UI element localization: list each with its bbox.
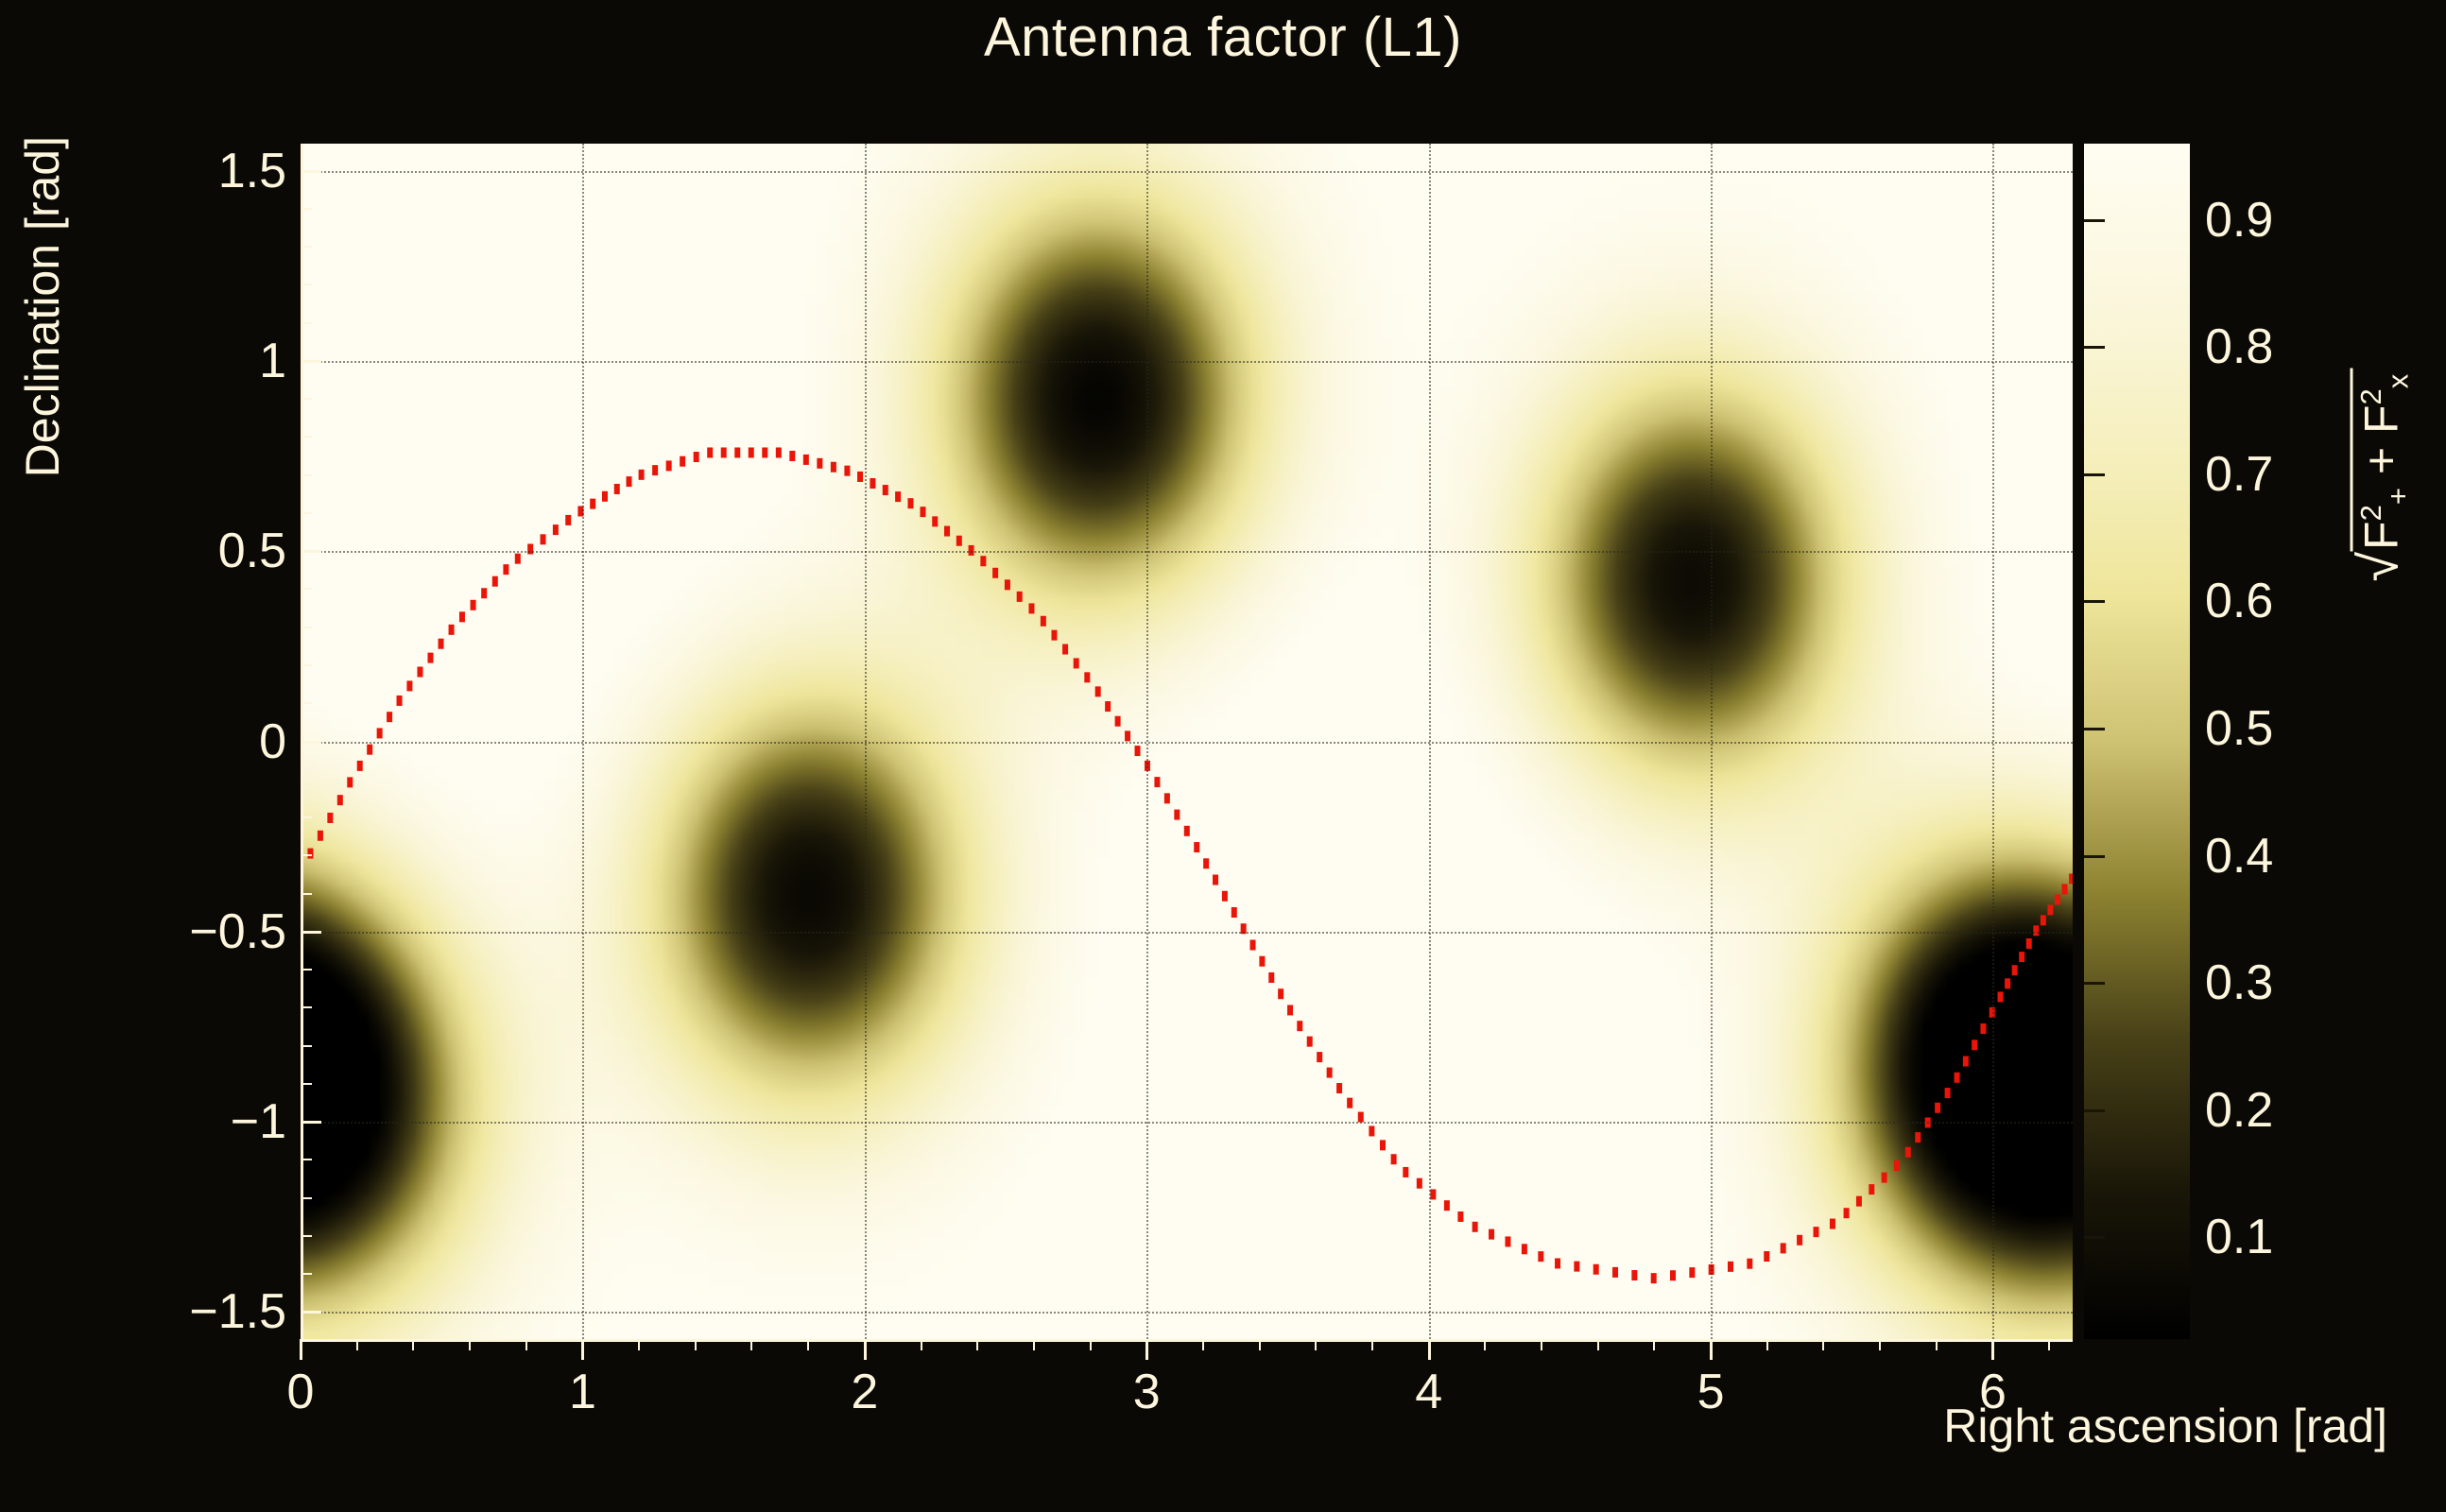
y-minor-tick xyxy=(301,398,312,400)
y-minor-tick xyxy=(301,1045,312,1047)
x-minor-tick xyxy=(750,1339,752,1350)
curve-point xyxy=(1555,1258,1560,1268)
curve-point xyxy=(1612,1267,1618,1278)
curve-point xyxy=(1972,1039,1977,1050)
curve-point xyxy=(1154,777,1160,787)
f-cross-term: F2x xyxy=(2355,374,2408,434)
curve-point xyxy=(907,498,913,508)
curve-point xyxy=(1689,1267,1695,1278)
curve-point xyxy=(1074,658,1079,668)
y-minor-tick xyxy=(301,816,312,818)
colorbar-tick-mark xyxy=(2084,1236,2105,1239)
y-minor-tick xyxy=(301,1159,312,1160)
y-minor-tick xyxy=(301,283,312,285)
x-minor-tick xyxy=(1653,1339,1655,1350)
colorbar-tick-label: 0.5 xyxy=(2205,700,2273,757)
y-tick-label: 0 xyxy=(121,713,286,770)
curve-point xyxy=(1268,972,1274,983)
curve-point xyxy=(932,516,938,526)
colorbar-tick-mark xyxy=(2084,346,2105,349)
curve-point xyxy=(1391,1154,1397,1164)
curve-point xyxy=(2019,952,2024,962)
curve-point xyxy=(1125,730,1130,741)
x-minor-tick xyxy=(469,1339,471,1350)
curve-point xyxy=(1164,793,1170,803)
y-tick-label: −1.5 xyxy=(121,1283,286,1340)
x-tick-mark xyxy=(864,1339,867,1360)
y-tick-mark xyxy=(301,1311,321,1314)
colorbar-tick-label: 0.3 xyxy=(2205,954,2273,1011)
curve-point xyxy=(1593,1264,1599,1275)
colorbar-tick-label: 0.8 xyxy=(2205,318,2273,375)
y-tick-label: 0.5 xyxy=(121,523,286,579)
curve-point xyxy=(734,447,740,457)
x-minor-tick xyxy=(2048,1339,2050,1350)
x-minor-tick xyxy=(1936,1339,1938,1350)
y-tick-mark xyxy=(301,360,321,363)
colorbar-tick-mark xyxy=(2084,855,2105,858)
curve-point xyxy=(1869,1184,1874,1194)
curve-point xyxy=(2005,978,2010,988)
curve-point xyxy=(2055,894,2060,904)
x-tick-mark xyxy=(1428,1339,1431,1360)
colorbar: 0.90.80.70.60.50.40.30.20.1 xyxy=(2084,144,2190,1339)
curve-point xyxy=(1905,1147,1911,1158)
x-tick-label: 1 xyxy=(569,1364,596,1420)
x-tick-mark xyxy=(581,1339,584,1360)
x-minor-tick xyxy=(1484,1339,1486,1350)
y-minor-tick xyxy=(301,1083,312,1085)
curve-point xyxy=(870,478,875,489)
curve-point xyxy=(1307,1037,1313,1047)
colorbar-tick-mark xyxy=(2084,219,2105,222)
curve-point xyxy=(1105,701,1111,712)
radicand: F2+ + F2x xyxy=(2351,369,2408,552)
y-minor-tick xyxy=(301,969,312,971)
curve-point xyxy=(367,745,372,755)
colorbar-title: √F2+ + F2x xyxy=(2221,142,2446,255)
curve-point xyxy=(492,576,498,587)
x-minor-tick xyxy=(1202,1339,1204,1350)
curve-point xyxy=(357,761,363,771)
x-minor-tick xyxy=(976,1339,978,1350)
x-minor-tick xyxy=(638,1339,640,1350)
y-minor-tick xyxy=(301,893,312,895)
y-axis-title: Declination [rad] xyxy=(15,136,70,798)
curve-point xyxy=(1317,1052,1322,1062)
curve-point xyxy=(1358,1112,1364,1123)
y-gridline xyxy=(301,361,2073,363)
curve-point xyxy=(1369,1125,1374,1136)
curve-point xyxy=(1945,1088,1951,1098)
y-minor-tick xyxy=(301,627,312,628)
y-gridline xyxy=(301,171,2073,173)
curve-point xyxy=(1017,592,1023,602)
curve-point xyxy=(1781,1243,1786,1253)
curve-point xyxy=(1250,940,1256,951)
x-minor-tick xyxy=(412,1339,414,1350)
y-gridline xyxy=(301,551,2073,553)
curve-point xyxy=(749,447,754,457)
x-minor-tick xyxy=(1597,1339,1599,1350)
curve-point xyxy=(883,485,888,495)
curve-point xyxy=(2069,873,2073,884)
x-tick-mark xyxy=(1145,1339,1148,1360)
y-tick-label: −0.5 xyxy=(121,903,286,960)
curve-point xyxy=(980,556,986,566)
curve-point xyxy=(459,611,465,622)
y-gridline xyxy=(301,1312,2073,1314)
x-minor-tick xyxy=(1315,1339,1317,1350)
curve-point xyxy=(439,639,444,649)
curve-point xyxy=(992,568,998,578)
curve-point xyxy=(1095,686,1101,696)
curve-point xyxy=(1522,1244,1527,1254)
y-minor-tick xyxy=(301,474,312,476)
curve-point xyxy=(1844,1208,1850,1218)
curve-point xyxy=(1287,1005,1293,1015)
x-tick-mark xyxy=(300,1339,302,1360)
curve-point xyxy=(920,507,925,517)
curve-point xyxy=(553,524,559,535)
curve-point xyxy=(417,667,422,678)
y-minor-tick xyxy=(301,1273,312,1275)
curve-point xyxy=(1194,842,1199,852)
curve-point xyxy=(1631,1270,1637,1280)
curve-point xyxy=(1538,1251,1543,1262)
curve-point xyxy=(1505,1236,1510,1246)
x-tick-label: 2 xyxy=(851,1364,878,1420)
y-gridline xyxy=(301,932,2073,934)
colorbar-tick-mark xyxy=(2084,728,2105,730)
colorbar-tick-mark xyxy=(2084,982,2105,985)
curve-point xyxy=(515,554,521,564)
y-minor-tick xyxy=(301,588,312,590)
y-tick-mark xyxy=(301,550,321,553)
curve-point xyxy=(1028,603,1034,613)
curve-point xyxy=(1084,672,1090,682)
curve-point xyxy=(1830,1219,1835,1229)
colorbar-title-text: √F2+ + F2x xyxy=(2349,53,2416,582)
colorbar-tick-label: 0.4 xyxy=(2205,828,2273,885)
y-minor-tick xyxy=(301,1006,312,1008)
y-tick-label: 1 xyxy=(121,333,286,389)
curve-point xyxy=(652,465,658,475)
curve-point xyxy=(1417,1178,1422,1189)
curve-point xyxy=(471,600,476,610)
curve-point xyxy=(503,564,508,575)
x-minor-tick xyxy=(1090,1339,1092,1350)
curve-point xyxy=(1457,1211,1463,1222)
curve-point xyxy=(481,588,487,598)
curve-point xyxy=(666,460,672,471)
curve-point xyxy=(1955,1073,1960,1083)
curve-point xyxy=(2033,925,2039,936)
x-tick-label: 0 xyxy=(287,1364,315,1420)
curve-point xyxy=(1213,875,1218,885)
x-tick-label: 3 xyxy=(1133,1364,1161,1420)
curve-point xyxy=(1041,616,1046,627)
curve-point xyxy=(1380,1140,1386,1150)
curve-point xyxy=(565,515,571,525)
y-minor-tick xyxy=(301,208,312,210)
chart-canvas: Antenna factor (L1) 0123456 1.510.50−0.5… xyxy=(0,0,2446,1512)
curve-point xyxy=(831,462,836,472)
curve-point xyxy=(1444,1200,1450,1211)
curve-point xyxy=(895,491,901,502)
x-minor-tick xyxy=(807,1339,809,1350)
curve-point xyxy=(1747,1259,1752,1269)
curve-point xyxy=(318,831,323,841)
curve-point xyxy=(337,795,343,805)
colorbar-tick-label: 0.1 xyxy=(2205,1209,2273,1265)
curve-point xyxy=(803,455,809,465)
curve-point xyxy=(327,813,333,823)
curve-point xyxy=(1728,1262,1733,1272)
curve-point xyxy=(1430,1189,1436,1199)
x-minor-tick xyxy=(1766,1339,1768,1350)
curve-point xyxy=(627,476,632,487)
curve-point xyxy=(590,499,595,509)
curve-point xyxy=(2012,965,2018,975)
x-minor-tick xyxy=(1541,1339,1542,1350)
curve-point xyxy=(1764,1251,1769,1262)
curve-point xyxy=(2047,904,2053,915)
curve-point xyxy=(1574,1262,1579,1272)
curve-point xyxy=(427,653,433,663)
x-minor-tick xyxy=(921,1339,922,1350)
curve-point xyxy=(1278,988,1283,999)
y-tick-mark xyxy=(301,931,321,934)
curve-point xyxy=(1297,1021,1302,1031)
curve-point xyxy=(944,526,950,537)
plot-area xyxy=(301,144,2073,1339)
f-plus-term: F2+ xyxy=(2355,488,2408,550)
curve-point xyxy=(680,456,685,467)
x-minor-tick xyxy=(695,1339,697,1350)
y-minor-tick xyxy=(301,702,312,704)
curve-point xyxy=(1670,1270,1676,1280)
curve-point xyxy=(762,447,767,457)
colorbar-gradient xyxy=(2084,144,2190,1339)
curve-point xyxy=(1327,1068,1333,1078)
curve-point xyxy=(1651,1273,1657,1283)
y-minor-tick xyxy=(301,664,312,666)
x-tick-label: 5 xyxy=(1697,1364,1725,1420)
curve-point xyxy=(776,447,782,457)
y-tick-label: 1.5 xyxy=(121,143,286,199)
y-minor-tick xyxy=(301,512,312,514)
curve-point xyxy=(1174,810,1180,820)
colorbar-tick-label: 0.2 xyxy=(2205,1082,2273,1139)
curve-point xyxy=(307,849,313,859)
curve-point xyxy=(707,447,713,457)
y-minor-tick xyxy=(301,322,312,324)
curve-point xyxy=(1005,579,1010,590)
y-minor-tick xyxy=(301,1235,312,1237)
curve-point xyxy=(1915,1132,1921,1143)
curve-point xyxy=(541,534,546,544)
curve-point xyxy=(602,491,608,502)
curve-point xyxy=(2061,884,2067,894)
x-minor-tick xyxy=(525,1339,527,1350)
curve-point xyxy=(639,470,645,480)
curve-point xyxy=(387,712,392,722)
colorbar-tick-label: 0.7 xyxy=(2205,446,2273,503)
y-tick-mark xyxy=(301,741,321,744)
curve-point xyxy=(1232,907,1237,918)
curve-point xyxy=(397,696,403,706)
x-minor-tick xyxy=(1371,1339,1373,1350)
curve-point xyxy=(817,458,822,469)
colorbar-tick-label: 0.6 xyxy=(2205,573,2273,629)
curve-point xyxy=(1203,858,1209,868)
x-minor-tick xyxy=(1259,1339,1261,1350)
curve-point xyxy=(1062,644,1068,655)
page-title: Antenna factor (L1) xyxy=(0,6,2446,69)
curve-point xyxy=(1347,1098,1352,1108)
curve-point xyxy=(1259,956,1265,967)
curve-point xyxy=(956,536,962,546)
colorbar-tick-mark xyxy=(2084,600,2105,603)
curve-point xyxy=(1998,991,2004,1002)
curve-point xyxy=(1935,1103,1940,1113)
curve-point xyxy=(377,728,383,738)
x-tick-label: 4 xyxy=(1415,1364,1442,1420)
curve-point xyxy=(694,452,699,462)
curve-point xyxy=(789,451,795,461)
y-gridline xyxy=(301,1122,2073,1124)
x-axis-title: Right ascension [rad] xyxy=(1943,1399,2387,1453)
y-tick-mark xyxy=(301,1121,321,1124)
curve-point xyxy=(614,484,620,494)
curve-point xyxy=(1184,826,1190,836)
curve-point xyxy=(1135,746,1141,756)
curve-point xyxy=(347,777,353,787)
curve-point xyxy=(1797,1235,1802,1246)
colorbar-tick-mark xyxy=(2084,1109,2105,1112)
curve-point xyxy=(1115,716,1121,727)
radical-sign: √ xyxy=(2350,552,2410,582)
curve-point xyxy=(1980,1023,1986,1034)
curve-point xyxy=(1336,1083,1342,1093)
curve-point xyxy=(1963,1057,1969,1067)
x-minor-tick xyxy=(1033,1339,1035,1350)
curve-point xyxy=(449,625,455,635)
y-minor-tick xyxy=(301,779,312,781)
curve-point xyxy=(1856,1196,1862,1207)
curve-point xyxy=(1051,630,1057,641)
curve-point xyxy=(1403,1167,1408,1177)
curve-point xyxy=(857,472,863,482)
curve-point xyxy=(1473,1222,1478,1232)
y-minor-tick xyxy=(301,1197,312,1199)
y-minor-tick xyxy=(301,436,312,438)
x-axis-line xyxy=(301,1339,2073,1342)
x-tick-mark xyxy=(1710,1339,1713,1360)
plus-sign: + xyxy=(2355,434,2408,488)
curve-point xyxy=(721,447,727,457)
curve-point xyxy=(406,680,412,691)
colorbar-tick-mark xyxy=(2084,473,2105,476)
curve-point xyxy=(2026,938,2032,949)
y-tick-mark xyxy=(301,170,321,173)
x-tick-mark xyxy=(1991,1339,1994,1360)
curve-point xyxy=(1222,891,1228,902)
y-gridline xyxy=(301,742,2073,744)
x-minor-tick xyxy=(1822,1339,1824,1350)
y-minor-tick xyxy=(301,854,312,856)
y-tick-label: −1 xyxy=(121,1093,286,1150)
curve-point xyxy=(2041,915,2046,925)
curve-point xyxy=(844,466,850,476)
x-minor-tick xyxy=(1879,1339,1881,1350)
y-minor-tick xyxy=(301,246,312,248)
curve-point xyxy=(1814,1227,1819,1237)
curve-point xyxy=(1882,1173,1887,1183)
curve-point xyxy=(1894,1160,1900,1171)
curve-point xyxy=(1489,1229,1494,1240)
x-minor-tick xyxy=(356,1339,358,1350)
